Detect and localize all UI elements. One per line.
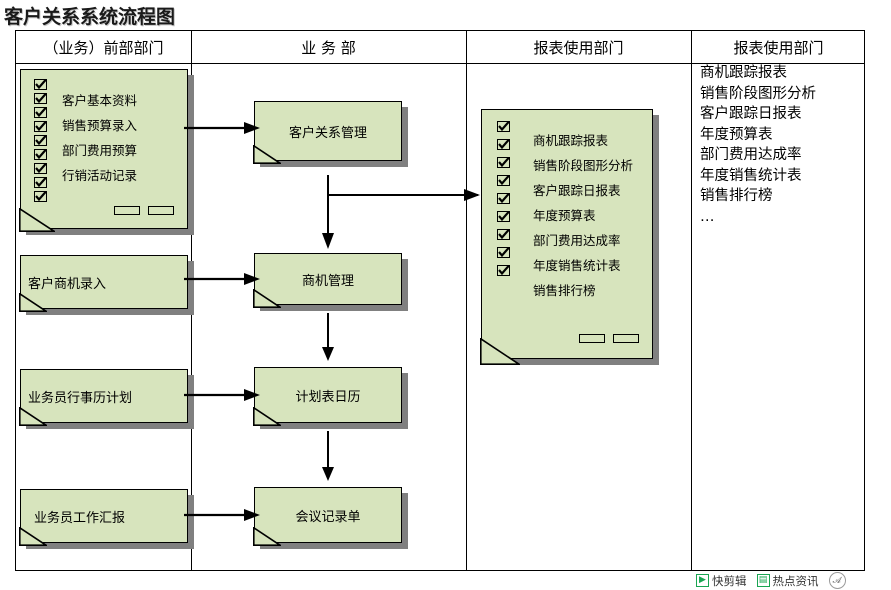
column-header-biz: 业 务 部 xyxy=(191,37,466,59)
tray-item-label: 热点资讯 xyxy=(773,573,819,589)
folded-corner-icon xyxy=(19,293,45,310)
flowchart-table: （业务）前部部门 业 务 部 报表使用部门 报表使用部门 客户基本资料销售预算录… xyxy=(15,30,865,571)
folded-corner-icon xyxy=(19,527,45,544)
minibar xyxy=(114,206,140,215)
box-customer-opportunity-entry[interactable]: 客户商机录入 xyxy=(20,255,188,309)
checkbox-icon xyxy=(34,135,47,146)
report-name: 年度销售统计表 xyxy=(700,166,866,187)
report-name: 销售排行榜 xyxy=(700,186,866,207)
box-label: 业务员工作汇报 xyxy=(34,507,125,526)
signature-icon[interactable]: 𝓐 xyxy=(829,572,846,589)
report-name: 销售阶段图形分析 xyxy=(700,84,866,105)
arrow-box2-to-opportunity xyxy=(184,272,262,286)
checkbox-icon xyxy=(497,139,510,150)
checkbox-icon xyxy=(34,163,47,174)
box-salesperson-work-report[interactable]: 业务员工作汇报 xyxy=(20,489,188,543)
checkbox-icon xyxy=(34,121,47,132)
checkbox-icon xyxy=(497,247,510,258)
box-opportunity-management[interactable]: 商机管理 xyxy=(254,253,402,305)
document-item-label: 销售阶段图形分析 xyxy=(533,160,633,173)
page-title: 客户关系系统流程图 xyxy=(4,2,175,29)
document-minibars xyxy=(579,334,639,343)
arrow-to-reports-doc xyxy=(460,188,484,202)
arrow-box4-to-meeting xyxy=(184,508,262,522)
folded-corner-icon xyxy=(19,208,53,230)
tray-item-label: 快剪辑 xyxy=(712,573,747,589)
document-item-label: 部门费用达成率 xyxy=(533,235,621,248)
column-header-report: 报表使用部门 xyxy=(466,37,691,59)
checkbox-icon xyxy=(497,265,510,276)
arrow-doc1-to-crm xyxy=(184,121,262,135)
document-item-label: 年度预算表 xyxy=(533,210,596,223)
document-item-label: 销售预算录入 xyxy=(62,120,137,133)
document-item-label: 年度销售统计表 xyxy=(533,260,621,273)
checkbox-icon xyxy=(34,149,47,160)
column-header-report2: 报表使用部门 xyxy=(691,37,866,59)
checkbox-icon xyxy=(34,107,47,118)
tray-item-quick-edit[interactable]: ▶ 快剪辑 xyxy=(696,573,747,589)
document-item-label: 客户基本资料 xyxy=(62,95,137,108)
checkbox-icon xyxy=(497,193,510,204)
checkbox-icon xyxy=(497,229,510,240)
folded-corner-icon xyxy=(253,407,279,424)
arrow-crm-to-opportunity xyxy=(321,175,335,251)
box-salesperson-calendar-plan[interactable]: 业务员行事历计划 xyxy=(20,369,188,423)
system-tray[interactable]: ▶ 快剪辑 ▤ 热点资讯 𝓐 xyxy=(696,571,846,590)
checkbox-icon xyxy=(497,157,510,168)
checkbox-column xyxy=(497,121,510,283)
box-label: 客户关系管理 xyxy=(254,122,402,141)
box-label: 客户商机录入 xyxy=(28,273,106,292)
connector-to-reports xyxy=(328,194,478,196)
tray-item-hot-news[interactable]: ▤ 热点资讯 xyxy=(757,573,819,589)
box-plan-calendar[interactable]: 计划表日历 xyxy=(254,367,402,423)
checkbox-icon xyxy=(34,177,47,188)
document-minibars xyxy=(114,206,174,215)
arrow-opportunity-to-calendar xyxy=(321,313,335,363)
checkbox-icon xyxy=(497,175,510,186)
folded-corner-icon xyxy=(253,289,279,306)
report-name: 部门费用达成率 xyxy=(700,145,866,166)
document-item-label: 销售排行榜 xyxy=(533,285,596,298)
minibar xyxy=(148,206,174,215)
report-name: 年度预算表 xyxy=(700,125,866,146)
report-name: 客户跟踪日报表 xyxy=(700,104,866,125)
column-divider-2 xyxy=(466,31,467,570)
folded-corner-icon xyxy=(253,145,279,162)
folded-corner-icon xyxy=(19,407,45,424)
document-item-label: 行销活动记录 xyxy=(62,170,137,183)
box-label: 会议记录单 xyxy=(254,506,402,525)
document-reports[interactable]: 商机跟踪报表销售阶段图形分析客户跟踪日报表年度预算表部门费用达成率年度销售统计表… xyxy=(481,109,653,359)
document-item-label: 商机跟踪报表 xyxy=(533,135,608,148)
checkbox-icon xyxy=(497,121,510,132)
box-label: 业务员行事历计划 xyxy=(28,387,132,406)
play-icon: ▶ xyxy=(696,574,709,587)
news-icon: ▤ xyxy=(757,574,770,587)
arrow-box3-to-calendar xyxy=(184,388,262,402)
document-customer-data[interactable]: 客户基本资料销售预算录入部门费用预算行销活动记录 xyxy=(20,69,188,229)
checkbox-column xyxy=(34,79,47,205)
box-crm-management[interactable]: 客户关系管理 xyxy=(254,101,402,161)
document-item-label: 部门费用预算 xyxy=(62,145,137,158)
checkbox-icon xyxy=(497,211,510,222)
minibar xyxy=(579,334,605,343)
folded-corner-icon xyxy=(480,338,514,360)
checkbox-icon xyxy=(34,93,47,104)
minibar xyxy=(613,334,639,343)
box-label: 计划表日历 xyxy=(254,386,402,405)
checkbox-icon xyxy=(34,79,47,90)
box-meeting-record[interactable]: 会议记录单 xyxy=(254,487,402,543)
checkbox-icon xyxy=(34,191,47,202)
column-header-front: （业务）前部部门 xyxy=(16,37,191,59)
report-ellipsis: … xyxy=(700,207,866,228)
arrow-calendar-to-meeting xyxy=(321,431,335,483)
document-item-label: 客户跟踪日报表 xyxy=(533,185,621,198)
report-name-list: 商机跟踪报表 销售阶段图形分析 客户跟踪日报表 年度预算表 部门费用达成率 年度… xyxy=(700,63,866,227)
folded-corner-icon xyxy=(253,527,279,544)
box-label: 商机管理 xyxy=(254,270,402,289)
column-divider-3 xyxy=(691,31,692,570)
report-name: 商机跟踪报表 xyxy=(700,63,866,84)
